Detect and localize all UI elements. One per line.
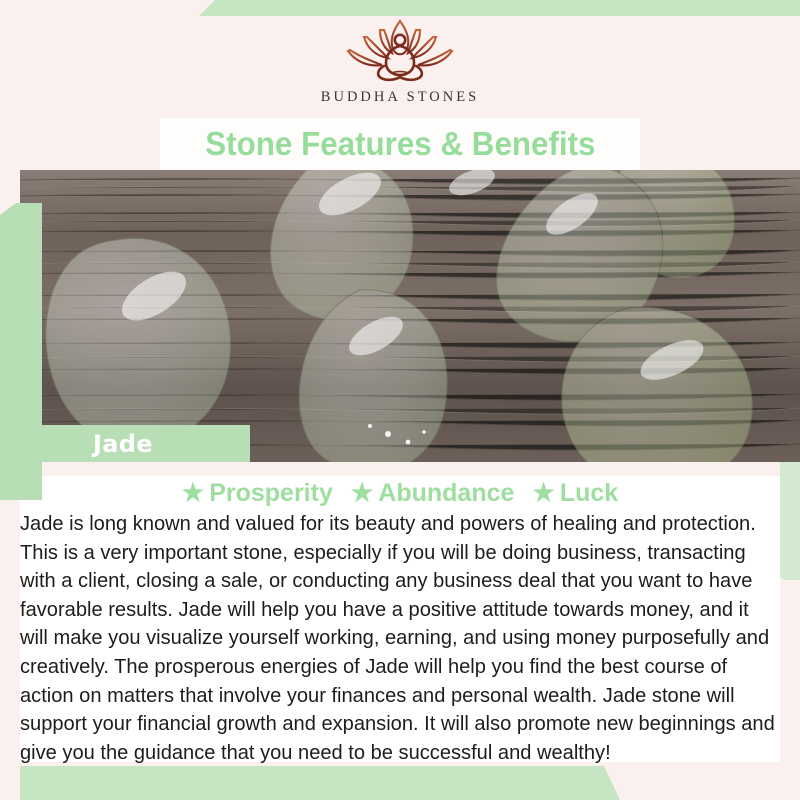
benefit-item-abundance: ★ Abundance — [351, 479, 515, 508]
benefit-item-luck: ★ Luck — [532, 479, 618, 508]
brand-name: BUDDHA STONES — [321, 89, 479, 106]
lotus-meditation-figure-icon — [340, 18, 460, 86]
bottom-green-accent-bar — [20, 766, 800, 800]
star-icon: ★ — [532, 481, 554, 506]
benefit-item-prosperity: ★ Prosperity — [182, 479, 333, 508]
star-icon: ★ — [182, 481, 204, 506]
benefits-row: ★ Prosperity ★ Abundance ★ Luck — [20, 476, 780, 510]
stone-name-label: Jade — [93, 430, 153, 458]
content-top-strip — [20, 462, 780, 476]
page-title: Stone Features & Benefits — [205, 125, 595, 163]
benefit-label: Abundance — [378, 479, 514, 508]
stone-name-band: Jade — [20, 425, 250, 462]
top-green-accent-bar — [0, 0, 800, 16]
star-icon: ★ — [351, 481, 373, 506]
title-banner: Stone Features & Benefits — [160, 118, 640, 170]
brand-logo-block: BUDDHA STONES — [0, 18, 800, 118]
benefit-label: Luck — [560, 479, 618, 508]
content-panel: ★ Prosperity ★ Abundance ★ Luck Jade is … — [20, 462, 780, 762]
jade-stones-photo — [20, 170, 800, 462]
benefit-label: Prosperity — [209, 479, 333, 508]
stone-description-text: Jade is long known and valued for its be… — [20, 510, 780, 767]
